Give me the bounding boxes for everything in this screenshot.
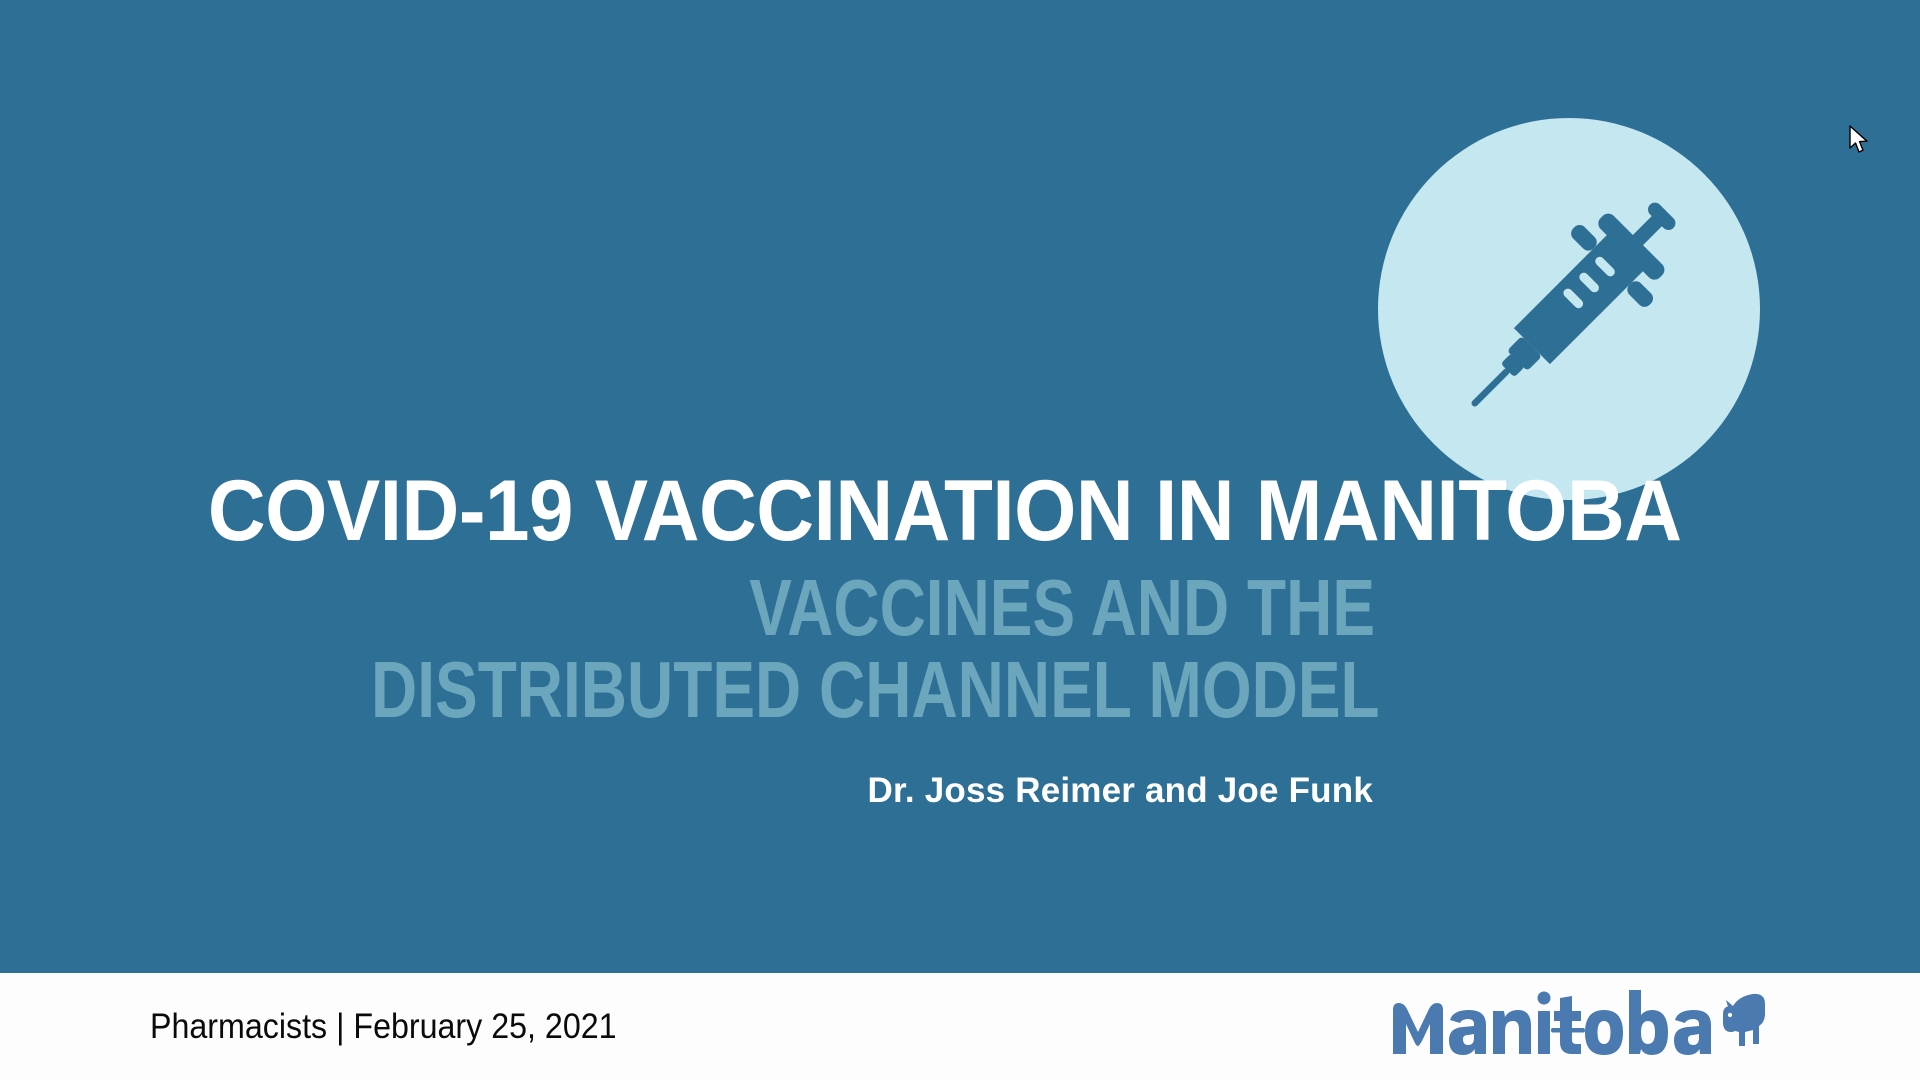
syringe-icon	[1419, 159, 1719, 459]
presentation-slide: COVID-19 VACCINATION IN MANITOBA VACCINE…	[0, 0, 1920, 1080]
authors-line: Dr. Joss Reimer and Joe Funk	[120, 771, 1375, 811]
subtitle-line-1: VACCINES AND THE	[371, 567, 1375, 649]
page-subtitle: VACCINES AND THE DISTRIBUTED CHANNEL MOD…	[371, 567, 1375, 732]
syringe-badge	[1378, 118, 1760, 500]
page-title: COVID-19 VACCINATION IN MANITOBA	[208, 470, 1375, 553]
footer-caption: Pharmacists | February 25, 2021	[150, 1007, 617, 1047]
title-block: COVID-19 VACCINATION IN MANITOBA VACCINE…	[120, 470, 1375, 811]
footer-band: Pharmacists | February 25, 2021	[0, 973, 1920, 1080]
mouse-pointer-icon	[1848, 125, 1870, 155]
subtitle-line-2: DISTRIBUTED CHANNEL MODEL	[371, 649, 1375, 731]
manitoba-wordmark-icon	[1385, 984, 1765, 1070]
bison-icon	[1723, 993, 1765, 1045]
manitoba-logo	[1385, 986, 1765, 1068]
